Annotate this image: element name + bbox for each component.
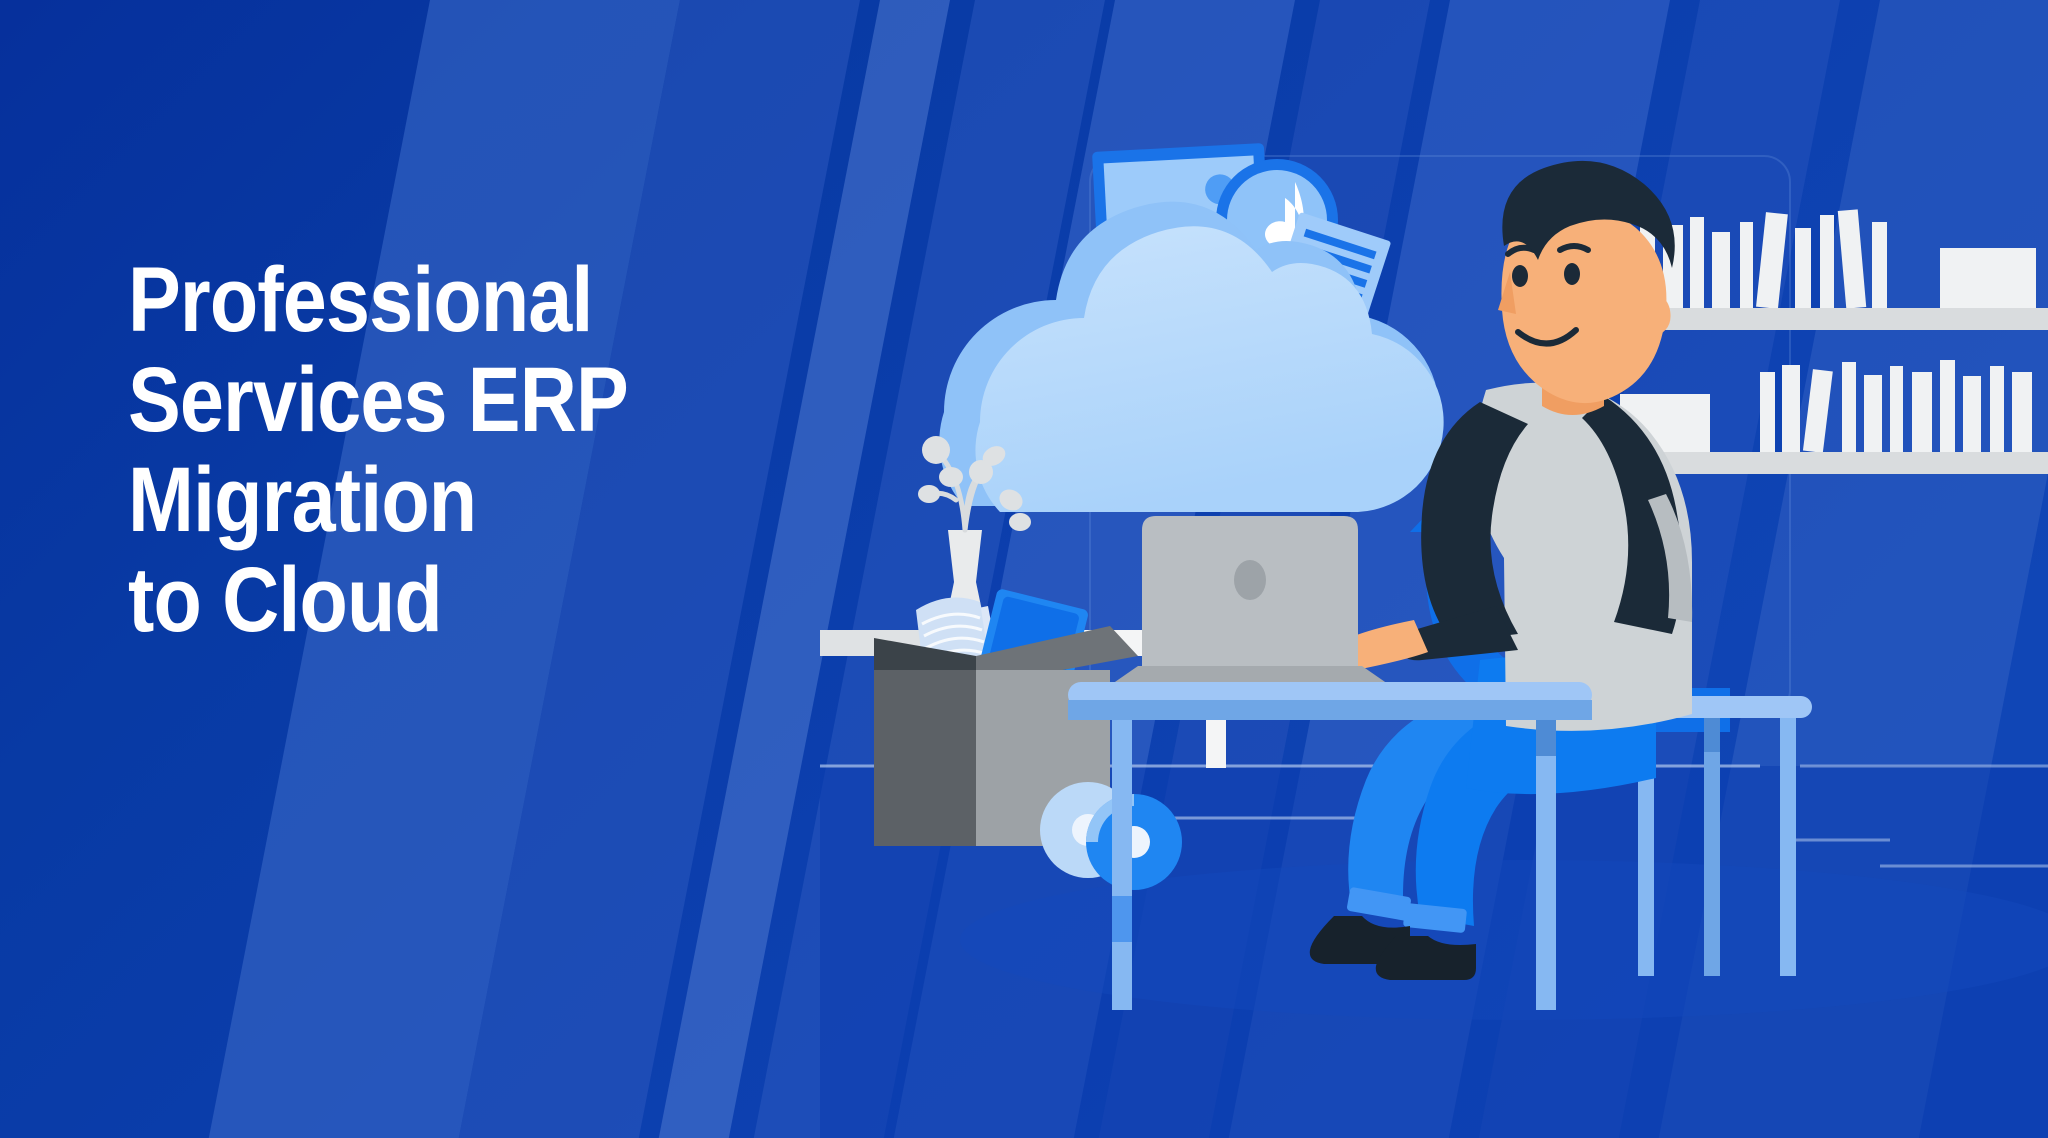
laptop xyxy=(1112,516,1388,684)
cloud-migration-illustration xyxy=(820,60,2048,1138)
laptop-logo xyxy=(1234,560,1266,600)
page-title: Professional Services ERP Migration to C… xyxy=(128,250,747,650)
banner: Professional Services ERP Migration to C… xyxy=(0,0,2048,1138)
